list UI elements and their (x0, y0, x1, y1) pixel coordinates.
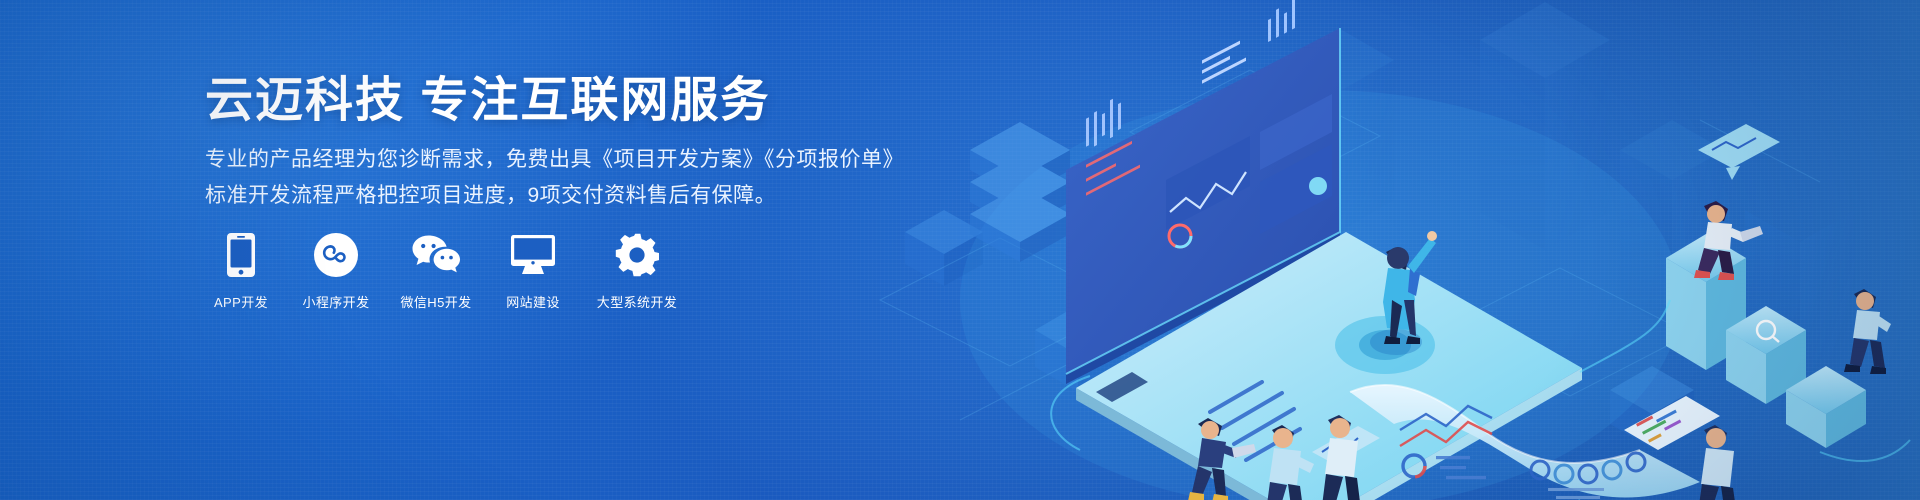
service-item-wechat-h5[interactable]: 微信H5开发 (395, 232, 477, 311)
hero-banner: 云迈科技 专注互联网服务 专业的产品经理为您诊断需求，免费出具《项目开发方案》《… (0, 0, 1920, 500)
gear-icon (615, 232, 659, 278)
service-item-mini-program[interactable]: 小程序开发 (297, 232, 375, 311)
service-label: APP开发 (214, 292, 268, 311)
service-item-website[interactable]: 网站建设 (497, 232, 569, 311)
banner-content: 云迈科技 专注互联网服务 专业的产品经理为您诊断需求，免费出具《项目开发方案》《… (205, 0, 965, 500)
person-walking-right (1844, 289, 1891, 374)
wechat-bubbles-icon (411, 232, 461, 278)
monitor-icon (511, 232, 555, 278)
subtitle-line-2: 标准开发流程严格把控项目进度，9项交付资料售后有保障。 (205, 178, 904, 214)
code-card (1624, 396, 1720, 450)
service-item-enterprise-system[interactable]: 大型系统开发 (589, 232, 685, 311)
isometric-illustration (880, 0, 1920, 500)
service-label: 大型系统开发 (597, 292, 677, 311)
mini-program-icon (314, 232, 358, 278)
banner-subtitle: 专业的产品经理为您诊断需求，免费出具《项目开发方案》《分项报价单》 标准开发流程… (205, 142, 904, 214)
person-bottom-right (1698, 425, 1737, 500)
mobile-phone-icon (227, 232, 255, 278)
service-label: 小程序开发 (302, 292, 369, 311)
service-label: 微信H5开发 (400, 292, 471, 311)
service-label: 网站建设 (506, 292, 560, 311)
server-stack-shape (970, 122, 1070, 262)
service-item-app[interactable]: APP开发 (205, 232, 277, 311)
subtitle-line-1: 专业的产品经理为您诊断需求，免费出具《项目开发方案》《分项报价单》 (205, 142, 904, 178)
page-title: 云迈科技 专注互联网服务 (205, 73, 770, 129)
service-list: APP开发 小程序开发 (205, 232, 685, 311)
